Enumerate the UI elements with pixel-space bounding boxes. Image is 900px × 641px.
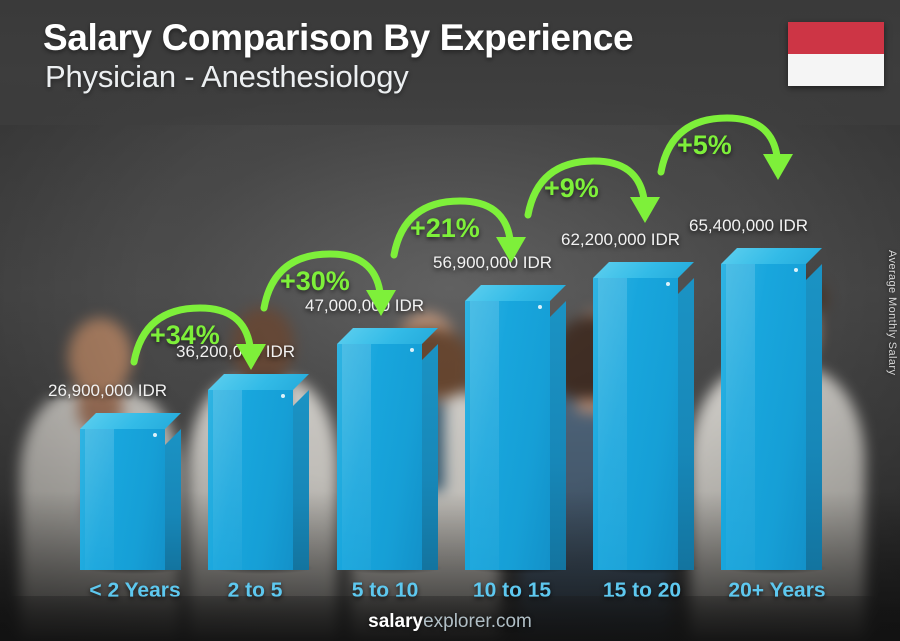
bar-side-face	[165, 429, 181, 570]
bar-top-face	[337, 328, 438, 344]
bar-highlight-dot	[281, 394, 285, 398]
brand-rest: explorer	[423, 611, 491, 632]
bar-front-face	[80, 429, 165, 570]
bar-front-face	[593, 278, 678, 570]
bar-5[interactable]	[593, 262, 694, 570]
bar-highlight-dot	[666, 282, 670, 286]
bar-3[interactable]	[337, 328, 438, 570]
bar-front-face	[208, 390, 293, 570]
percent-badge-5: +5%	[655, 110, 805, 190]
bar-top-face	[593, 262, 694, 278]
bar-side-face	[293, 390, 309, 570]
brand-tld: .com	[491, 611, 532, 632]
percent-change-text-4: +9%	[544, 173, 599, 204]
value-label-1: 26,900,000 IDR	[48, 381, 167, 401]
percent-change-text-3: +21%	[410, 213, 480, 244]
bar-highlight-dot	[794, 268, 798, 272]
bar-top-face	[465, 285, 566, 301]
percent-badge-2: +30%	[258, 246, 408, 326]
bar-highlight-dot	[153, 433, 157, 437]
percent-badge-3: +21%	[388, 193, 538, 273]
bar-4[interactable]	[465, 285, 566, 570]
bar-2[interactable]	[208, 374, 309, 570]
bar-top-face	[721, 248, 822, 264]
bar-front-face	[465, 301, 550, 570]
percent-badge-4: +9%	[522, 153, 672, 233]
percent-change-text-1: +34%	[150, 320, 220, 351]
value-label-5: 62,200,000 IDR	[561, 230, 680, 250]
footer-brand: salaryexplorer.com	[0, 611, 900, 633]
value-label-6: 65,400,000 IDR	[689, 216, 808, 236]
bar-side-face	[422, 344, 438, 570]
percent-change-text-2: +30%	[280, 266, 350, 297]
bars-container: 26,900,000 IDR36,200,000 IDR47,000,000 I…	[0, 0, 900, 641]
bar-front-face	[337, 344, 422, 570]
bar-highlight-dot	[538, 305, 542, 309]
salary-comparison-chart: Salary Comparison By Experience Physicia…	[0, 0, 900, 641]
bar-top-face	[80, 413, 181, 429]
bar-front-face	[721, 264, 806, 570]
bar-6[interactable]	[721, 248, 822, 570]
bar-highlight-dot	[410, 348, 414, 352]
bar-side-face	[678, 278, 694, 570]
bar-1[interactable]	[80, 413, 181, 570]
brand-bold: salary	[368, 611, 423, 632]
percent-badge-1: +34%	[128, 300, 278, 380]
bar-side-face	[550, 301, 566, 570]
percent-change-text-5: +5%	[677, 130, 732, 161]
bar-side-face	[806, 264, 822, 570]
